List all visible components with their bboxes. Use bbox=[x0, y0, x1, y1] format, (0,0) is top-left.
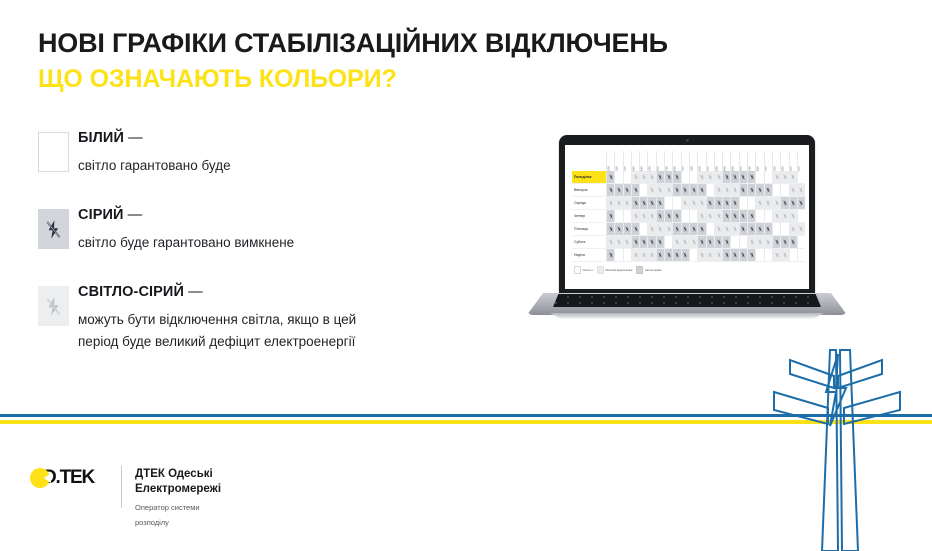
legend-item-text: БІЛИЙ — світло гарантовано буде bbox=[78, 130, 508, 177]
legend-item-text: СІРИЙ — світло буде гарантовано вимкнене bbox=[78, 207, 508, 254]
schedule-cell[interactable] bbox=[706, 171, 714, 184]
crossed-bolt-icon bbox=[766, 226, 770, 232]
schedule-cell[interactable] bbox=[656, 184, 664, 197]
schedule-cell[interactable] bbox=[747, 197, 755, 210]
schedule-cell[interactable] bbox=[739, 223, 747, 236]
crossed-bolt-icon bbox=[758, 187, 762, 193]
schedule-cell[interactable] bbox=[614, 210, 622, 223]
schedule-cell[interactable] bbox=[697, 210, 705, 223]
schedule-cell[interactable] bbox=[747, 171, 755, 184]
schedule-cell[interactable] bbox=[672, 210, 680, 223]
schedule-cell[interactable] bbox=[606, 171, 614, 184]
schedule-day-row[interactable]: Понеділок bbox=[572, 171, 805, 184]
schedule-cell[interactable] bbox=[614, 171, 622, 184]
schedule-cell[interactable] bbox=[631, 223, 639, 236]
schedule-cell[interactable] bbox=[755, 223, 763, 236]
crossed-bolt-icon bbox=[766, 200, 770, 206]
schedule-cell[interactable] bbox=[780, 249, 788, 262]
schedule-hour-header: 19:00 bbox=[764, 151, 772, 171]
schedule-cell[interactable] bbox=[755, 210, 763, 223]
schedule-cell[interactable] bbox=[764, 171, 772, 184]
schedule-hour-header: 20:00 bbox=[772, 151, 780, 171]
schedule-cell[interactable] bbox=[647, 236, 655, 249]
crossed-bolt-icon bbox=[733, 226, 737, 232]
schedule-cell[interactable] bbox=[730, 210, 738, 223]
schedule-cell[interactable] bbox=[639, 197, 647, 210]
schedule-cell[interactable] bbox=[689, 184, 697, 197]
schedule-cell[interactable] bbox=[780, 210, 788, 223]
crossed-bolt-icon bbox=[675, 213, 679, 219]
webcam-icon bbox=[686, 139, 689, 142]
schedule-cell[interactable] bbox=[764, 197, 772, 210]
schedule-cell[interactable] bbox=[664, 249, 672, 262]
schedule-cell[interactable] bbox=[681, 223, 689, 236]
schedule-cell[interactable] bbox=[772, 223, 780, 236]
schedule-cell[interactable] bbox=[714, 223, 722, 236]
schedule-cell[interactable] bbox=[656, 171, 664, 184]
crossed-bolt-icon bbox=[717, 226, 721, 232]
crossed-bolt-icon bbox=[791, 226, 795, 232]
schedule-cell[interactable] bbox=[606, 223, 614, 236]
crossed-bolt-icon bbox=[625, 187, 629, 193]
schedule-cell[interactable] bbox=[780, 184, 788, 197]
crossed-bolt-icon bbox=[717, 174, 721, 180]
crossed-bolt-icon bbox=[692, 239, 696, 245]
crossed-bolt-icon bbox=[692, 226, 696, 232]
schedule-cell[interactable] bbox=[739, 249, 747, 262]
schedule-cell[interactable] bbox=[747, 223, 755, 236]
crossed-bolt-icon bbox=[667, 174, 671, 180]
schedule-cell[interactable] bbox=[689, 197, 697, 210]
schedule-cell[interactable] bbox=[631, 210, 639, 223]
schedule-hour-header: 14:00 bbox=[722, 151, 730, 171]
crossed-bolt-icon bbox=[708, 239, 712, 245]
schedule-cell[interactable] bbox=[730, 171, 738, 184]
crossed-bolt-icon bbox=[783, 239, 787, 245]
schedule-cell[interactable] bbox=[623, 223, 631, 236]
schedule-cell[interactable] bbox=[714, 236, 722, 249]
laptop-screen: 00:0001:0002:0003:0004:0005:0006:0007:00… bbox=[565, 145, 809, 289]
schedule-cell[interactable] bbox=[772, 249, 780, 262]
schedule-cell[interactable] bbox=[730, 197, 738, 210]
schedule-cell[interactable] bbox=[730, 236, 738, 249]
company-name-line1: ДТЕК Одеські bbox=[135, 467, 221, 482]
crossed-bolt-icon bbox=[783, 200, 787, 206]
legend-title-dash: — bbox=[124, 130, 143, 146]
schedule-cell[interactable] bbox=[656, 210, 664, 223]
schedule-cell[interactable] bbox=[706, 184, 714, 197]
schedule-cell[interactable] bbox=[780, 197, 788, 210]
schedule-cell[interactable] bbox=[639, 223, 647, 236]
schedule-cell[interactable] bbox=[722, 223, 730, 236]
schedule-day-row[interactable]: Середа bbox=[572, 197, 805, 210]
schedule-cell[interactable] bbox=[681, 210, 689, 223]
schedule-cell[interactable] bbox=[714, 171, 722, 184]
schedule-cell[interactable] bbox=[739, 197, 747, 210]
schedule-cell[interactable] bbox=[664, 197, 672, 210]
crossed-bolt-icon bbox=[700, 226, 704, 232]
crossed-bolt-icon bbox=[750, 239, 754, 245]
crossed-bolt-icon bbox=[717, 187, 721, 193]
schedule-cell[interactable] bbox=[631, 197, 639, 210]
schedule-legend-item: Можливі відключення bbox=[597, 266, 633, 274]
schedule-cell[interactable] bbox=[672, 236, 680, 249]
crossed-bolt-icon bbox=[675, 174, 679, 180]
crossed-bolt-icon bbox=[650, 200, 654, 206]
crossed-bolt-icon bbox=[700, 200, 704, 206]
crossed-bolt-icon bbox=[683, 252, 687, 258]
schedule-cell[interactable] bbox=[789, 197, 797, 210]
crossed-bolt-icon bbox=[650, 252, 654, 258]
schedule-cell[interactable] bbox=[747, 236, 755, 249]
crossed-bolt-glyph bbox=[45, 219, 62, 240]
schedule-cell[interactable] bbox=[689, 236, 697, 249]
schedule-cell[interactable] bbox=[697, 184, 705, 197]
schedule-cell[interactable] bbox=[747, 184, 755, 197]
crossed-bolt-icon bbox=[634, 200, 638, 206]
legend-item-text: СВІТЛО-СІРИЙ — можуть бути відключення с… bbox=[78, 284, 508, 353]
schedule-cell[interactable] bbox=[606, 184, 614, 197]
schedule-cell[interactable] bbox=[672, 197, 680, 210]
crossed-bolt-icon bbox=[675, 252, 679, 258]
crossed-bolt-icon bbox=[617, 187, 621, 193]
schedule-cell[interactable] bbox=[664, 236, 672, 249]
dtek-logo-mark: D.TEK bbox=[30, 466, 108, 490]
schedule-cell[interactable] bbox=[614, 184, 622, 197]
legend-item-gray: СІРИЙ — світло буде гарантовано вимкнене bbox=[38, 207, 508, 259]
crossed-bolt-icon bbox=[733, 174, 737, 180]
crossed-bolt-icon bbox=[675, 187, 679, 193]
crossed-bolt-icon bbox=[741, 252, 745, 258]
crossed-bolt-icon bbox=[750, 187, 754, 193]
schedule-cell[interactable] bbox=[706, 223, 714, 236]
schedule-cell[interactable] bbox=[797, 249, 805, 262]
schedule-cell[interactable] bbox=[639, 249, 647, 262]
schedule-cell[interactable] bbox=[797, 197, 805, 210]
schedule-hour-header: 04:00 bbox=[639, 151, 647, 171]
schedule-cell[interactable] bbox=[614, 223, 622, 236]
schedule-cell[interactable] bbox=[739, 210, 747, 223]
crossed-bolt-icon bbox=[658, 187, 662, 193]
schedule-cell[interactable] bbox=[722, 197, 730, 210]
schedule-cell[interactable] bbox=[747, 210, 755, 223]
schedule-cell[interactable] bbox=[797, 184, 805, 197]
crossed-bolt-icon bbox=[708, 213, 712, 219]
schedule-cell[interactable] bbox=[789, 236, 797, 249]
schedule-cell[interactable] bbox=[780, 236, 788, 249]
schedule-cell[interactable] bbox=[697, 223, 705, 236]
legend-title-word: БІЛИЙ bbox=[78, 130, 124, 146]
schedule-cell[interactable] bbox=[639, 236, 647, 249]
schedule-cell[interactable] bbox=[606, 197, 614, 210]
schedule-cell[interactable] bbox=[739, 236, 747, 249]
schedule-cell[interactable] bbox=[689, 249, 697, 262]
schedule-cell[interactable] bbox=[722, 249, 730, 262]
crossed-bolt-icon bbox=[783, 213, 787, 219]
schedule-cell[interactable] bbox=[631, 249, 639, 262]
legend-item-title: СВІТЛО-СІРИЙ — bbox=[78, 284, 508, 300]
schedule-cell[interactable] bbox=[730, 249, 738, 262]
schedule-cell[interactable] bbox=[739, 184, 747, 197]
schedule-cell[interactable] bbox=[697, 249, 705, 262]
schedule-cell[interactable] bbox=[647, 210, 655, 223]
crossed-bolt-icon bbox=[642, 174, 646, 180]
crossed-bolt-icon bbox=[617, 239, 621, 245]
schedule-cell[interactable] bbox=[706, 249, 714, 262]
schedule-cell[interactable] bbox=[647, 197, 655, 210]
crossed-bolt-icon bbox=[617, 226, 621, 232]
schedule-hour-header: 13:00 bbox=[714, 151, 722, 171]
crossed-bolt-icon bbox=[634, 174, 638, 180]
crossed-bolt-icon bbox=[609, 187, 613, 193]
schedule-cell[interactable] bbox=[789, 171, 797, 184]
schedule-cell[interactable] bbox=[755, 249, 763, 262]
schedule-cell[interactable] bbox=[664, 223, 672, 236]
crossed-bolt-icon bbox=[625, 239, 629, 245]
schedule-cell[interactable] bbox=[722, 236, 730, 249]
crossed-bolt-icon bbox=[609, 213, 613, 219]
schedule-cell[interactable] bbox=[772, 197, 780, 210]
schedule-cell[interactable] bbox=[797, 210, 805, 223]
schedule-cell[interactable] bbox=[639, 184, 647, 197]
schedule-legend-swatch bbox=[597, 266, 604, 274]
company-subtitle-line1: Оператор системи bbox=[135, 503, 221, 513]
schedule-cell[interactable] bbox=[697, 197, 705, 210]
schedule-cell[interactable] bbox=[764, 184, 772, 197]
schedule-cell[interactable] bbox=[623, 210, 631, 223]
schedule-cell[interactable] bbox=[772, 171, 780, 184]
crossed-bolt-icon bbox=[700, 213, 704, 219]
schedule-cell[interactable] bbox=[706, 210, 714, 223]
schedule-cell[interactable] bbox=[614, 197, 622, 210]
crossed-bolt-icon bbox=[791, 174, 795, 180]
schedule-cell[interactable] bbox=[706, 197, 714, 210]
schedule-cell[interactable] bbox=[681, 236, 689, 249]
schedule-cell[interactable] bbox=[656, 249, 664, 262]
legend-item-title: СІРИЙ — bbox=[78, 207, 508, 223]
schedule-cell[interactable] bbox=[739, 171, 747, 184]
schedule-cell[interactable] bbox=[789, 210, 797, 223]
schedule-day-row[interactable]: П'ятниця bbox=[572, 223, 805, 236]
schedule-cell[interactable] bbox=[672, 171, 680, 184]
schedule-cell[interactable] bbox=[730, 184, 738, 197]
schedule-cell[interactable] bbox=[772, 236, 780, 249]
schedule-hour-header: 16:00 bbox=[739, 151, 747, 171]
schedule-cell[interactable] bbox=[797, 171, 805, 184]
schedule-cell[interactable] bbox=[639, 210, 647, 223]
schedule-hour-header: 21:00 bbox=[780, 151, 788, 171]
page-title: НОВІ ГРАФІКИ СТАБІЛІЗАЦІЙНИХ ВІДКЛЮЧЕНЬ bbox=[38, 28, 838, 58]
crossed-bolt-icon bbox=[650, 213, 654, 219]
crossed-bolt-icon bbox=[642, 213, 646, 219]
schedule-cell[interactable] bbox=[764, 210, 772, 223]
crossed-bolt-icon bbox=[750, 252, 754, 258]
crossed-bolt-icon bbox=[741, 187, 745, 193]
crossed-bolt-icon bbox=[741, 226, 745, 232]
crossed-bolt-icon bbox=[708, 252, 712, 258]
legend-item-description: світло буде гарантовано вимкнене bbox=[78, 232, 508, 254]
schedule-cell[interactable] bbox=[764, 236, 772, 249]
schedule-cell[interactable] bbox=[614, 236, 622, 249]
schedule-cell[interactable] bbox=[780, 223, 788, 236]
schedule-hour-header: 07:00 bbox=[664, 151, 672, 171]
schedule-cell[interactable] bbox=[689, 171, 697, 184]
schedule-cell[interactable] bbox=[647, 171, 655, 184]
schedule-cell[interactable] bbox=[764, 223, 772, 236]
schedule-cell[interactable] bbox=[664, 171, 672, 184]
schedule-cell[interactable] bbox=[722, 184, 730, 197]
schedule-day-row[interactable]: Субота bbox=[572, 236, 805, 249]
crossed-bolt-icon bbox=[758, 226, 762, 232]
schedule-cell[interactable] bbox=[681, 197, 689, 210]
schedule-cell[interactable] bbox=[656, 223, 664, 236]
schedule-day-label: Вівторок bbox=[572, 184, 606, 197]
schedule-cell[interactable] bbox=[631, 171, 639, 184]
schedule-cell[interactable] bbox=[639, 171, 647, 184]
crossed-bolt-icon bbox=[642, 200, 646, 206]
schedule-cell[interactable] bbox=[714, 249, 722, 262]
schedule-cell[interactable] bbox=[797, 236, 805, 249]
schedule-cell[interactable] bbox=[623, 171, 631, 184]
crossed-bolt-icon bbox=[733, 200, 737, 206]
schedule-cell[interactable] bbox=[647, 223, 655, 236]
crossed-bolt-icon bbox=[799, 200, 803, 206]
crossed-bolt-icon bbox=[733, 252, 737, 258]
schedule-day-label: Неділя bbox=[572, 249, 606, 262]
company-name-line2: Електромережі bbox=[135, 482, 221, 497]
schedule-cell[interactable] bbox=[681, 249, 689, 262]
schedule-cell[interactable] bbox=[764, 249, 772, 262]
schedule-legend-label: Світла немає bbox=[645, 269, 662, 272]
schedule-cell[interactable] bbox=[722, 171, 730, 184]
schedule-day-row[interactable]: Четвер bbox=[572, 210, 805, 223]
keyboard-keys bbox=[553, 294, 821, 307]
legend-item-description: світло гарантовано буде bbox=[78, 155, 508, 177]
crossed-bolt-icon bbox=[667, 226, 671, 232]
schedule-day-label: Четвер bbox=[572, 210, 606, 223]
schedule-cell[interactable] bbox=[647, 184, 655, 197]
crossed-bolt-icon bbox=[717, 200, 721, 206]
crossed-bolt-icon bbox=[733, 213, 737, 219]
legend-title-dash: — bbox=[124, 207, 143, 223]
schedule-cell[interactable] bbox=[623, 197, 631, 210]
schedule-cell[interactable] bbox=[780, 171, 788, 184]
schedule-cell[interactable] bbox=[689, 210, 697, 223]
crossed-bolt-icon bbox=[658, 226, 662, 232]
schedule-cell[interactable] bbox=[606, 210, 614, 223]
crossed-bolt-icon bbox=[658, 213, 662, 219]
schedule-cell[interactable] bbox=[681, 171, 689, 184]
schedule-cell[interactable] bbox=[714, 184, 722, 197]
schedule-cell[interactable] bbox=[672, 184, 680, 197]
schedule-cell[interactable] bbox=[614, 249, 622, 262]
schedule-cell[interactable] bbox=[772, 210, 780, 223]
schedule-cell[interactable] bbox=[647, 249, 655, 262]
schedule-cell[interactable] bbox=[697, 236, 705, 249]
schedule-cell[interactable] bbox=[672, 249, 680, 262]
crossed-bolt-icon bbox=[750, 213, 754, 219]
schedule-cell[interactable] bbox=[714, 210, 722, 223]
schedule-day-label: Середа bbox=[572, 197, 606, 210]
crossed-bolt-icon bbox=[700, 252, 704, 258]
schedule-cell[interactable] bbox=[664, 210, 672, 223]
schedule-cell[interactable] bbox=[623, 249, 631, 262]
schedule-cell[interactable] bbox=[714, 197, 722, 210]
schedule-cell[interactable] bbox=[706, 236, 714, 249]
crossed-bolt-icon bbox=[775, 252, 779, 258]
legend-item-light-gray: СВІТЛО-СІРИЙ — можуть бути відключення с… bbox=[38, 284, 508, 353]
schedule-cell[interactable] bbox=[606, 249, 614, 262]
crossed-bolt-icon bbox=[658, 200, 662, 206]
crossed-bolt-icon bbox=[700, 239, 704, 245]
schedule-cell[interactable] bbox=[755, 184, 763, 197]
legend-item-description-line1: можуть бути відключення світла, якщо в ц… bbox=[78, 309, 508, 331]
crossed-bolt-icon bbox=[717, 213, 721, 219]
schedule-cell[interactable] bbox=[797, 223, 805, 236]
schedule-hour-header: 02:00 bbox=[623, 151, 631, 171]
schedule-cell[interactable] bbox=[697, 171, 705, 184]
schedule-cell[interactable] bbox=[672, 223, 680, 236]
laptop-illustration: 00:0001:0002:0003:0004:0005:0006:0007:00… bbox=[527, 135, 847, 340]
schedule-cell[interactable] bbox=[631, 184, 639, 197]
schedule-day-row[interactable]: Неділя bbox=[572, 249, 805, 262]
schedule-cell[interactable] bbox=[789, 249, 797, 262]
schedule-cell[interactable] bbox=[755, 171, 763, 184]
crossed-bolt-icon bbox=[650, 174, 654, 180]
schedule-hour-header: 00:00 bbox=[606, 151, 614, 171]
schedule-legend-item: Світло є bbox=[574, 266, 593, 274]
schedule-cell[interactable] bbox=[656, 197, 664, 210]
crossed-bolt-icon bbox=[667, 252, 671, 258]
schedule-cell[interactable] bbox=[755, 236, 763, 249]
schedule-cell[interactable] bbox=[606, 236, 614, 249]
schedule-cell[interactable] bbox=[730, 223, 738, 236]
crossed-bolt-icon bbox=[700, 187, 704, 193]
schedule-cell[interactable] bbox=[656, 236, 664, 249]
schedule-hour-header: 01:00 bbox=[614, 151, 622, 171]
schedule-cell[interactable] bbox=[722, 210, 730, 223]
schedule-cell[interactable] bbox=[747, 249, 755, 262]
headline-block: НОВІ ГРАФІКИ СТАБІЛІЗАЦІЙНИХ ВІДКЛЮЧЕНЬ … bbox=[38, 28, 838, 93]
schedule-cell[interactable] bbox=[689, 223, 697, 236]
crossed-bolt-icon bbox=[725, 174, 729, 180]
schedule-cell[interactable] bbox=[772, 184, 780, 197]
crossed-bolt-icon bbox=[634, 213, 638, 219]
schedule-cell[interactable] bbox=[623, 236, 631, 249]
logo-circle-icon bbox=[30, 468, 50, 488]
schedule-cell[interactable] bbox=[755, 197, 763, 210]
crossed-bolt-icon bbox=[717, 239, 721, 245]
schedule-cell[interactable] bbox=[681, 184, 689, 197]
schedule-cell[interactable] bbox=[623, 184, 631, 197]
crossed-bolt-icon bbox=[741, 174, 745, 180]
schedule-cell[interactable] bbox=[631, 236, 639, 249]
crossed-bolt-icon bbox=[766, 187, 770, 193]
footer-logo-block: D.TEK ДТЕК Одеські Електромережі Операто… bbox=[30, 466, 221, 529]
legend-title-dash: — bbox=[184, 284, 203, 300]
crossed-bolt-icon bbox=[758, 239, 762, 245]
schedule-cell[interactable] bbox=[664, 184, 672, 197]
schedule-cell[interactable] bbox=[789, 223, 797, 236]
legend-title-word: СІРИЙ bbox=[78, 207, 124, 223]
crossed-bolt-icon bbox=[658, 174, 662, 180]
schedule-day-row[interactable]: Вівторок bbox=[572, 184, 805, 197]
schedule-legend-label: Світло є bbox=[583, 269, 593, 272]
crossed-bolt-icon bbox=[750, 226, 754, 232]
schedule-cell[interactable] bbox=[789, 184, 797, 197]
crossed-bolt-icon bbox=[38, 286, 69, 326]
crossed-bolt-icon bbox=[725, 200, 729, 206]
